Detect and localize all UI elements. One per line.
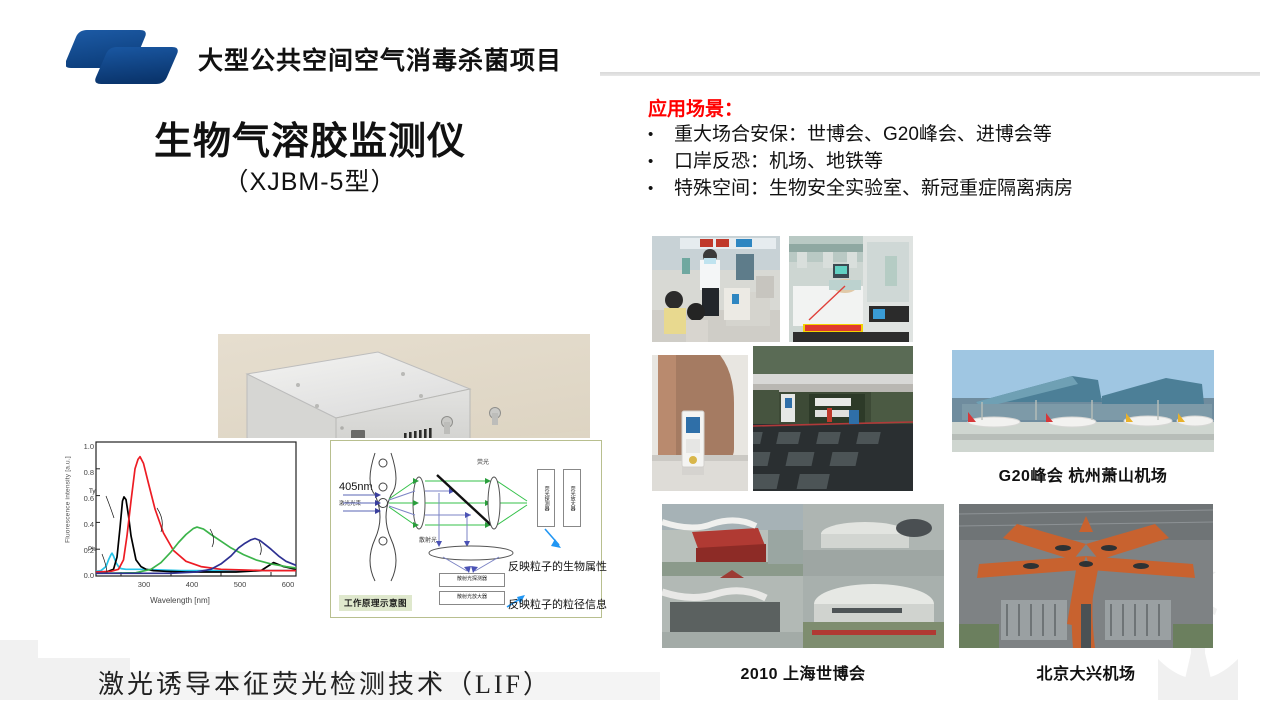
photo-terminal-kiosk bbox=[652, 355, 748, 491]
application-heading: 应用场景： bbox=[648, 94, 743, 121]
header-divider bbox=[600, 72, 1260, 76]
list-item: • 口岸反恐：机场、地铁等 bbox=[648, 149, 1248, 176]
photo-hangzhou-airport bbox=[952, 350, 1214, 452]
list-item: • 特殊空间：生物安全实验室、新冠重症隔离病房 bbox=[648, 176, 1248, 203]
fluorescence-spectra-chart: Fluorescence intensity [a.u.] Wavelength… bbox=[60, 438, 300, 618]
photo-icu-ward bbox=[789, 236, 913, 342]
schematic-output-bio: 反映粒子的生物属性 bbox=[508, 558, 607, 574]
bullet-dot-icon: • bbox=[648, 149, 674, 172]
product-panel: 生物气溶胶监测仪 （XJBM-5型） bbox=[0, 96, 630, 676]
caption-expo: 2010 上海世博会 bbox=[662, 660, 944, 684]
list-item-label: 口岸反恐：机场、地铁等 bbox=[674, 149, 883, 176]
header-title: 大型公共空间空气消毒杀菌项目 bbox=[198, 41, 562, 77]
caption-daxing: 北京大兴机场 bbox=[959, 660, 1213, 684]
chart-x-axis-label: Wavelength [nm] bbox=[60, 596, 300, 605]
bullet-dot-icon: • bbox=[648, 176, 674, 199]
bullet-dot-icon: • bbox=[648, 122, 674, 145]
caption-hangzhou: G20峰会 杭州萧山机场 bbox=[952, 462, 1214, 486]
schematic-output-size: 反映粒子的粒径信息 bbox=[508, 596, 607, 612]
list-item: • 重大场合安保：世博会、G20峰会、进博会等 bbox=[648, 122, 1248, 149]
lif-technology-caption: 激光诱导本征荧光检测技术（LIF） bbox=[38, 664, 612, 701]
application-bullet-list: • 重大场合安保：世博会、G20峰会、进博会等 • 口岸反恐：机场、地铁等 • … bbox=[648, 122, 1248, 203]
product-name: 生物气溶胶监测仪 bbox=[0, 110, 620, 165]
photo-airport-security-check bbox=[652, 236, 780, 342]
company-logo bbox=[66, 27, 184, 84]
working-principle-diagram: 405nm 激光光束 荧光 散射光 荧光探测器 荧光放大器 散射光探测器 散射光… bbox=[330, 440, 602, 618]
list-item-label: 重大场合安保：世博会、G20峰会、进博会等 bbox=[674, 122, 1052, 149]
photo-daxing-airport bbox=[959, 504, 1213, 648]
product-model: （XJBM-5型） bbox=[0, 162, 620, 198]
photo-shanghai-expo bbox=[662, 504, 944, 648]
technology-figure-card: Fluorescence intensity [a.u.] Wavelength… bbox=[38, 438, 612, 658]
list-item-label: 特殊空间：生物安全实验室、新冠重症隔离病房 bbox=[674, 176, 1073, 203]
photo-arrival-hall bbox=[753, 346, 913, 491]
